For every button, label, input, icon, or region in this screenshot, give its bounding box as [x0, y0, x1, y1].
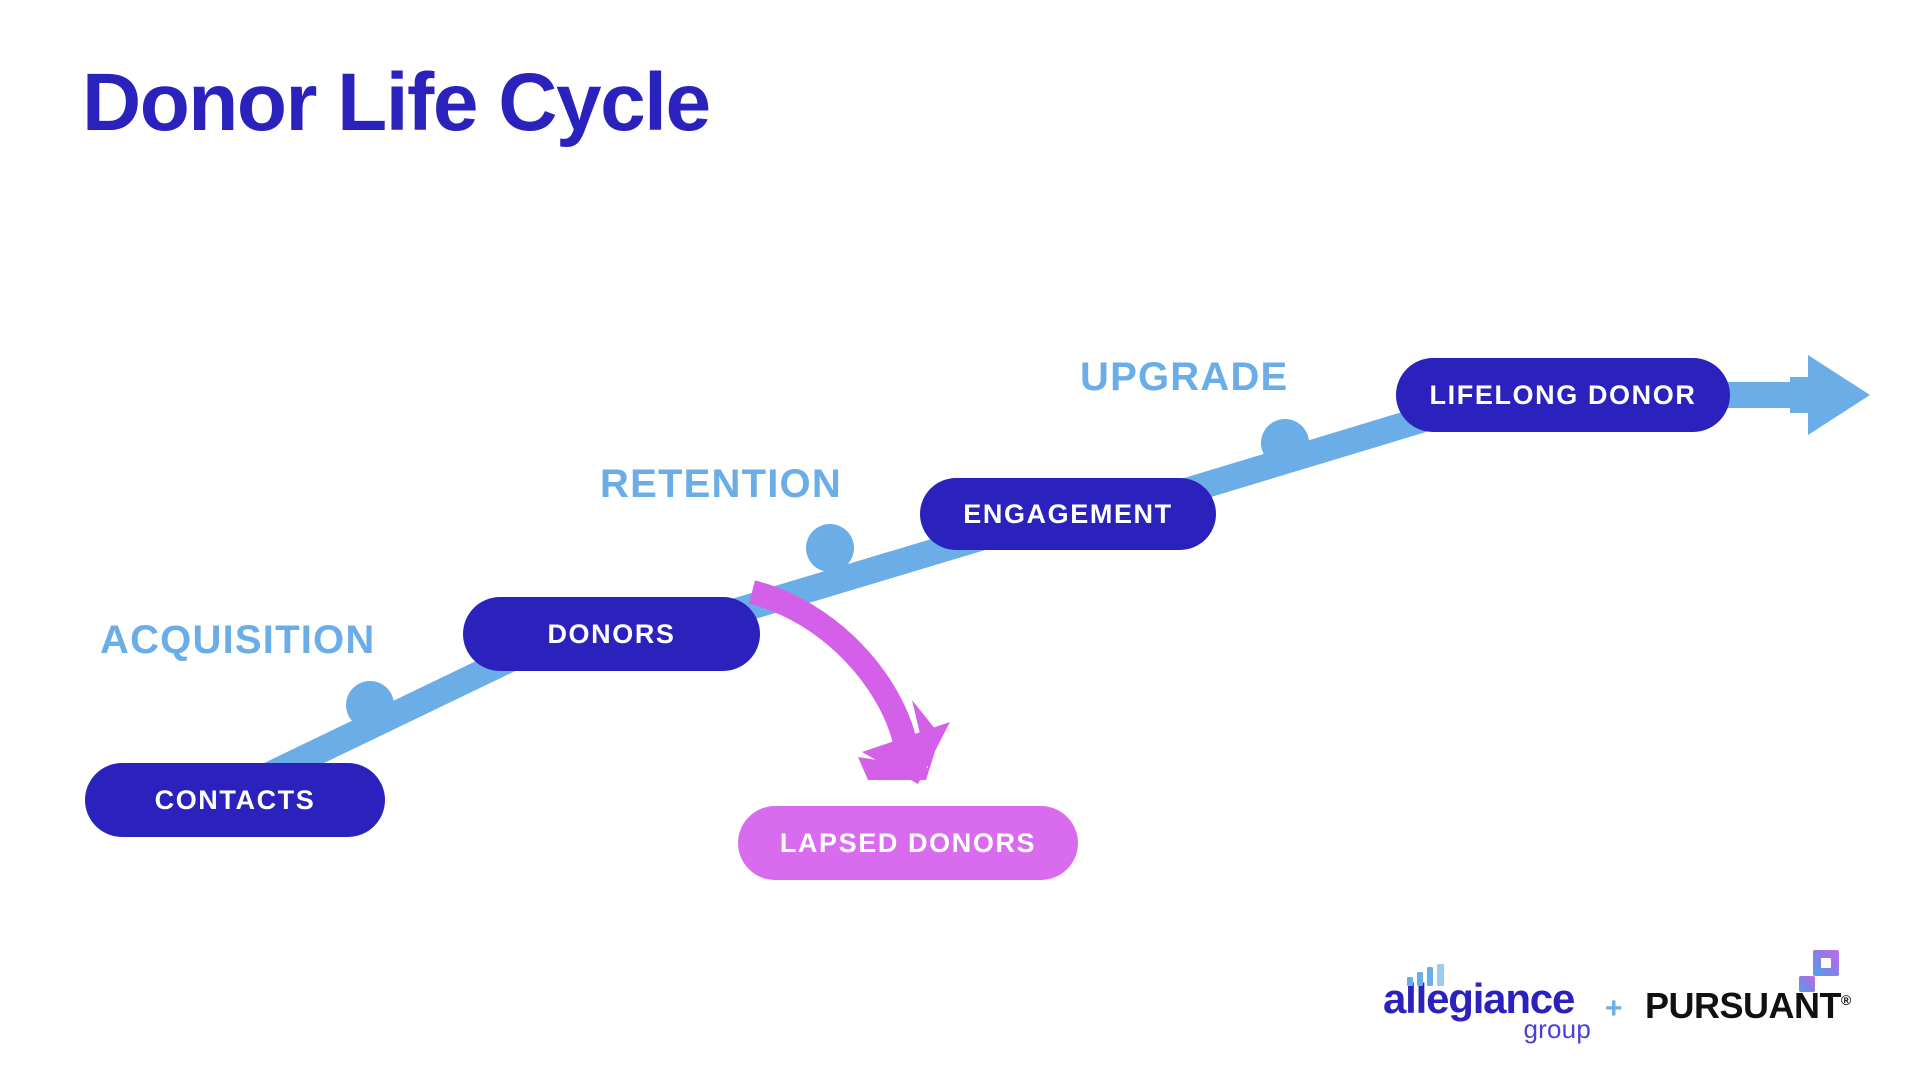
- flow-line-blue: [238, 395, 1830, 790]
- stage-pill-engagement[interactable]: ENGAGEMENT: [920, 478, 1216, 550]
- logo-lockup: allegiance group + PURSUANT®: [1383, 972, 1853, 1052]
- stage-label-upgrade: UPGRADE: [1080, 355, 1288, 400]
- stage-pill-lapsed-donors[interactable]: LAPSED DONORS: [738, 806, 1078, 880]
- stage-pill-lifelong-donor[interactable]: LIFELONG DONOR: [1396, 358, 1730, 432]
- flow-node-dot: [806, 524, 854, 572]
- stage-pill-donors[interactable]: DONORS: [463, 597, 760, 671]
- flow-node-dot: [346, 681, 394, 729]
- right-arrow-icon: [1790, 355, 1870, 435]
- bar-chart-icon: [1407, 964, 1447, 986]
- stage-label-retention: RETENTION: [600, 462, 842, 507]
- logo-plus-separator: +: [1605, 994, 1623, 1024]
- flow-node-dot: [1261, 419, 1309, 467]
- pursuant-square-mark-icon: [1797, 950, 1853, 1006]
- curved-down-arrow-icon: [752, 592, 950, 784]
- slide-canvas: Donor Life Cycle ACQUISITIO: [0, 0, 1920, 1080]
- stage-label-acquisition: ACQUISITION: [100, 618, 375, 663]
- allegiance-group-subtext: group: [1524, 1016, 1592, 1042]
- stage-pill-contacts[interactable]: CONTACTS: [85, 763, 385, 837]
- allegiance-group-logo: allegiance group: [1383, 978, 1593, 1020]
